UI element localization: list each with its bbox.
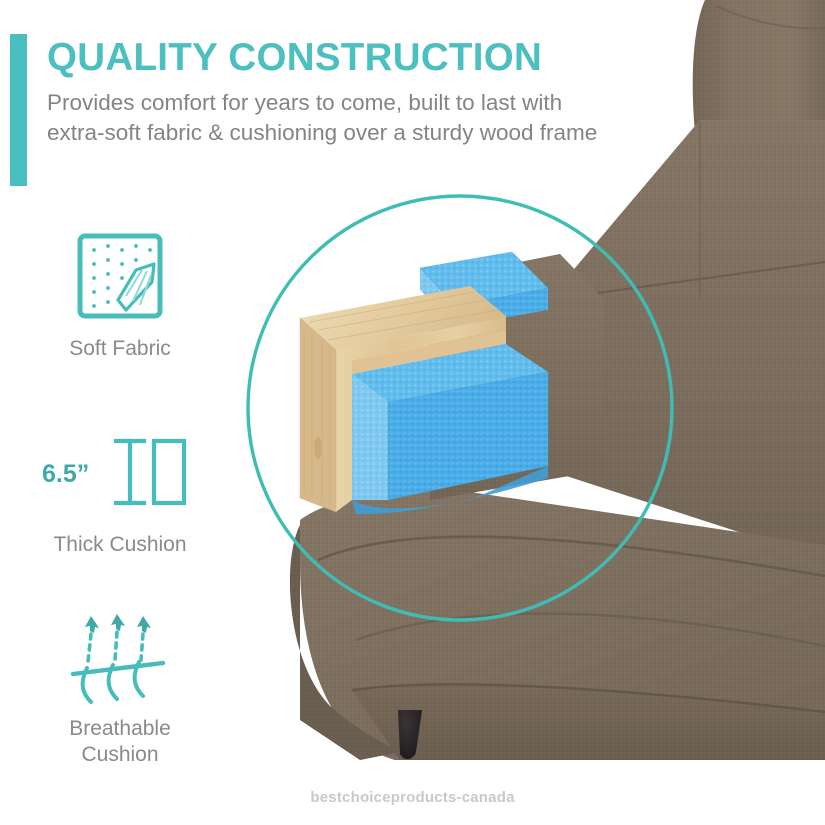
fabric-swatch-icon [74, 230, 166, 322]
feature-thick-cushion: 6.5” Thick Cushion [5, 424, 235, 558]
feature-label-line1: Breathable [5, 716, 235, 742]
feature-label: Breathable Cushion [5, 716, 235, 768]
feature-label-line2: Cushion [5, 742, 235, 768]
feature-icon-wrap [5, 228, 235, 324]
feature-label: Thick Cushion [5, 532, 235, 558]
accent-bar [10, 34, 27, 186]
page-title: QUALITY CONSTRUCTION [47, 36, 542, 80]
feature-icon-wrap: 6.5” [5, 424, 235, 520]
feature-icon-wrap [5, 608, 235, 704]
feature-label: Soft Fabric [5, 336, 235, 362]
feature-breathable-cushion: Breathable Cushion [5, 608, 235, 768]
airflow-fibers-icon [65, 608, 175, 704]
page-subtitle: Provides comfort for years to come, buil… [47, 88, 607, 148]
feature-soft-fabric: Soft Fabric [5, 228, 235, 362]
cushion-thickness-icon: 6.5” [40, 429, 200, 515]
thickness-measurement: 6.5” [42, 460, 89, 488]
product-infographic: QUALITY CONSTRUCTION Provides comfort fo… [0, 0, 825, 825]
